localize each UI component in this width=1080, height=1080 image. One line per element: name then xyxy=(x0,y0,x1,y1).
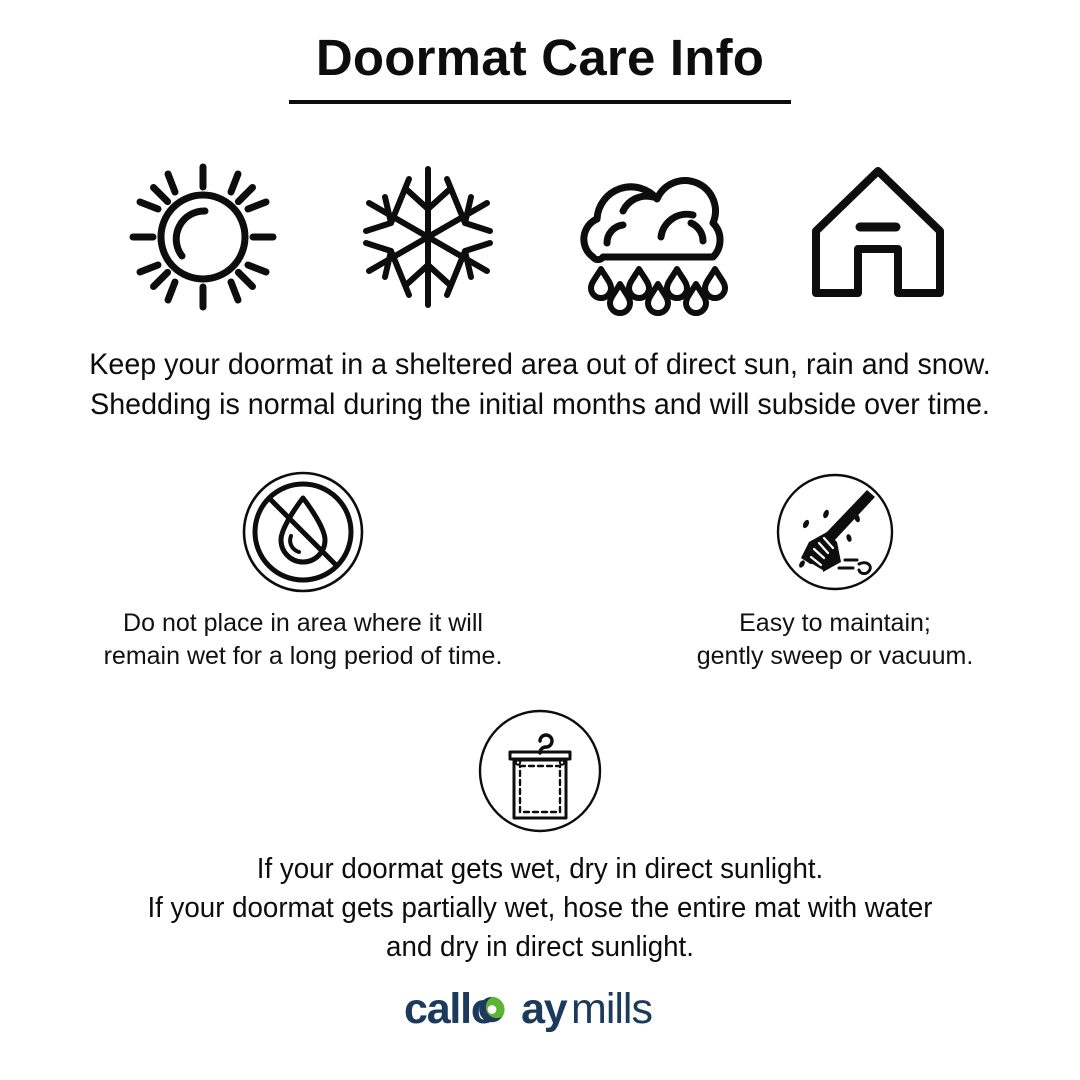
rain-cloud-icon xyxy=(563,157,743,317)
care-right-line-1: Easy to maintain; xyxy=(600,607,1070,640)
intro-paragraph: Keep your doormat in a sheltered area ou… xyxy=(24,345,1055,425)
weather-icon-row xyxy=(0,152,1080,322)
logo-calloway-part-2: ay xyxy=(521,985,568,1033)
weather-cell-sun xyxy=(90,152,315,322)
hang-to-dry-icon xyxy=(477,708,603,834)
care-caption-left: Do not place in area where it will remai… xyxy=(68,607,538,673)
care-right-line-2: gently sweep or vacuum. xyxy=(600,640,1070,673)
brand-logo: callooay mills xyxy=(0,984,1080,1036)
title-underline-rule xyxy=(289,100,791,104)
sun-icon xyxy=(123,157,283,317)
care-icon-wrap-left xyxy=(68,470,538,594)
broom-sweep-icon xyxy=(775,472,895,592)
weather-cell-rain-cloud xyxy=(540,152,765,322)
intro-line-2: Shedding is normal during the initial mo… xyxy=(24,385,1055,425)
intro-line-1: Keep your doormat in a sheltered area ou… xyxy=(24,345,1055,385)
care-info-infographic: Doormat Care Info xyxy=(0,0,1080,1080)
dry-icon-wrap xyxy=(0,706,1080,836)
logo-green-o-icon xyxy=(479,997,504,1022)
care-left-line-2: remain wet for a long period of time. xyxy=(68,640,538,673)
dry-instructions-block: If your doormat gets wet, dry in direct … xyxy=(0,706,1080,967)
dry-line-3: and dry in direct sunlight. xyxy=(24,928,1055,967)
care-item-easy-maintain: Easy to maintain; gently sweep or vacuum… xyxy=(600,470,1070,673)
snowflake-icon xyxy=(348,157,508,317)
weather-cell-snowflake xyxy=(315,152,540,322)
care-caption-right: Easy to maintain; gently sweep or vacuum… xyxy=(600,607,1070,673)
weather-cell-house xyxy=(765,152,990,322)
calloway-mills-logo: callooay mills xyxy=(404,984,676,1036)
care-item-no-standing-water: Do not place in area where it will remai… xyxy=(68,470,538,673)
dry-caption: If your doormat gets wet, dry in direct … xyxy=(24,850,1055,967)
dry-line-2: If your doormat gets partially wet, hose… xyxy=(24,889,1055,928)
title-block: Doormat Care Info xyxy=(0,28,1080,104)
page-title: Doormat Care Info xyxy=(0,28,1080,88)
house-icon xyxy=(798,157,958,317)
dry-line-1: If your doormat gets wet, dry in direct … xyxy=(24,850,1055,889)
care-left-line-1: Do not place in area where it will xyxy=(68,607,538,640)
care-icon-wrap-right xyxy=(600,470,1070,594)
no-water-icon xyxy=(241,470,365,594)
care-row: Do not place in area where it will remai… xyxy=(0,470,1080,670)
logo-word-mills: mills xyxy=(571,985,652,1033)
